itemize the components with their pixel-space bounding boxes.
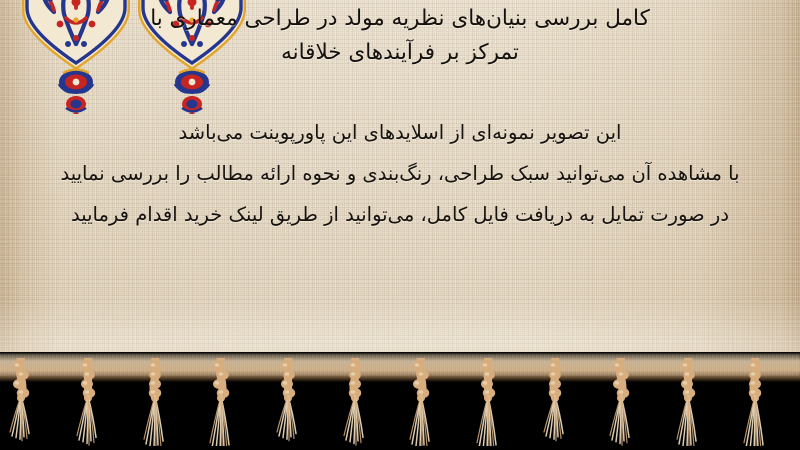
fringe-tassel [671,358,705,446]
slide-body-text: این تصویر نمونه‌ای از اسلایدهای این پاور… [12,112,788,235]
fringe-tassel [71,358,105,446]
slide-title-line-1: کامل بررسی بنیان‌های نظریه مولد در طراحی… [18,2,782,36]
fringe-tassel [538,358,572,446]
slide-canvas: کامل بررسی بنیان‌های نظریه مولد در طراحی… [0,0,800,450]
fringe-tassel [338,358,372,446]
slide-title: کامل بررسی بنیان‌های نظریه مولد در طراحی… [18,2,782,70]
fringe-tassel [471,358,505,446]
fringe-tassel [604,358,638,446]
carpet-fringe-tassels [0,352,800,450]
body-line-1: این تصویر نمونه‌ای از اسلایدهای این پاور… [12,112,788,153]
fringe-tassel [4,358,38,446]
fringe-tassel [738,358,772,446]
fringe-tassel [204,358,238,446]
fringe-tassel [138,358,172,446]
slide-title-line-2: تمرکز بر فرآیندهای خلاقانه [18,36,782,70]
body-line-3: در صورت تمایل به دریافت فایل کامل، می‌تو… [12,194,788,235]
fringe-tassel [271,358,305,446]
body-line-2: با مشاهده آن می‌توانید سبک طراحی، رنگ‌بن… [12,153,788,194]
fringe-tassel [404,358,438,446]
slide-text-layer: کامل بررسی بنیان‌های نظریه مولد در طراحی… [0,0,800,372]
